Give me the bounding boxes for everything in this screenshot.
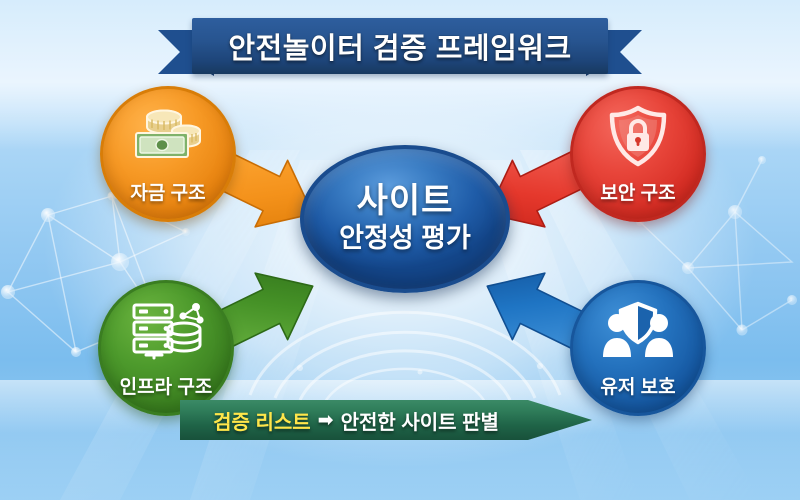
infographic-canvas: 자금 구조 보안 구조 (0, 0, 800, 500)
users-shield-icon (600, 299, 676, 361)
header-ribbon: 안전놀이터 검증 프레임워크 (158, 12, 642, 74)
footer-arrow-glyph: ➡ (318, 409, 334, 432)
node-security-label: 보안 구조 (600, 178, 675, 205)
ribbon-band: 안전놀이터 검증 프레임워크 (192, 18, 608, 74)
money-coins-icon (130, 105, 206, 167)
footer-highlight-text: 검증 리스트 (213, 406, 311, 435)
node-user-protection-label: 유저 보호 (600, 372, 675, 399)
node-funding-label: 자금 구조 (130, 178, 205, 205)
page-title: 안전놀이터 검증 프레임워크 (228, 25, 571, 67)
center-title-line2: 안정성 평가 (339, 223, 471, 254)
footer-text-group: 검증 리스트 ➡ 안전한 사이트 판별 (180, 396, 532, 444)
center-title-line1: 사이트 (357, 184, 454, 220)
node-infrastructure-label: 인프라 구조 (120, 372, 213, 399)
center-node[interactable]: 사이트 안정성 평가 (300, 145, 510, 293)
footer-rest-text: 안전한 사이트 판별 (341, 406, 499, 435)
shield-lock-icon (600, 105, 676, 167)
node-funding[interactable]: 자금 구조 (100, 86, 236, 222)
footer-arrow-banner: 검증 리스트 ➡ 안전한 사이트 판별 (180, 396, 592, 444)
server-database-icon (128, 299, 204, 361)
node-security[interactable]: 보안 구조 (570, 86, 706, 222)
